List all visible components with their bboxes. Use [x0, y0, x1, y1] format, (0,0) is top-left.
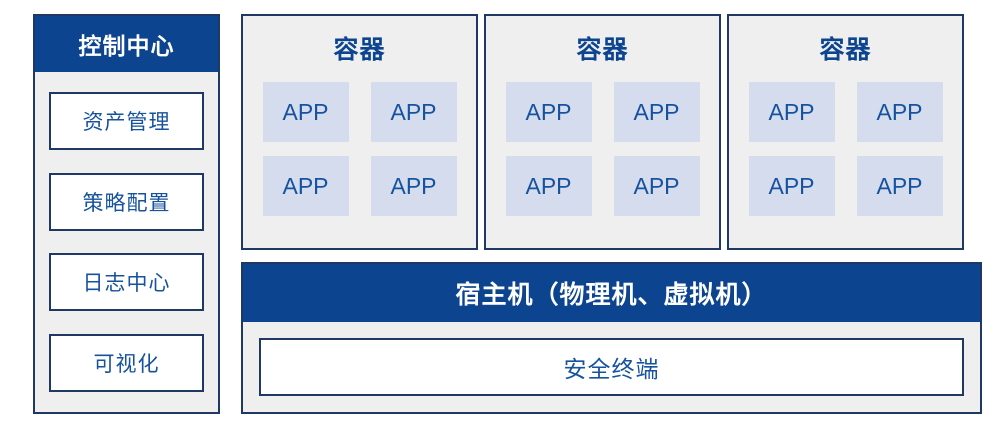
- app-box: APP: [263, 82, 349, 142]
- app-box: APP: [614, 156, 700, 216]
- container-panel-3: 容器 APP APP APP APP: [727, 14, 964, 250]
- control-item-visualization[interactable]: 可视化: [49, 334, 204, 392]
- security-terminal-box: 安全终端: [259, 338, 964, 396]
- app-box: APP: [371, 156, 457, 216]
- app-grid: APP APP APP APP: [749, 82, 943, 216]
- architecture-diagram: 控制中心 资产管理 策略配置 日志中心 可视化 容器 APP APP APP A…: [0, 0, 1001, 437]
- control-center-title: 控制中心: [35, 16, 218, 72]
- app-grid: APP APP APP APP: [506, 82, 700, 216]
- container-title: 容器: [576, 30, 628, 66]
- app-box: APP: [506, 82, 592, 142]
- host-machine-title: 宿主机（物理机、虚拟机）: [243, 264, 980, 322]
- app-box: APP: [614, 82, 700, 142]
- control-center-panel: 控制中心 资产管理 策略配置 日志中心 可视化: [33, 14, 220, 414]
- app-box: APP: [371, 82, 457, 142]
- container-panel-1: 容器 APP APP APP APP: [241, 14, 478, 250]
- container-row: 容器 APP APP APP APP 容器 APP APP APP APP 容器…: [241, 14, 964, 250]
- app-grid: APP APP APP APP: [263, 82, 457, 216]
- container-title: 容器: [819, 30, 871, 66]
- app-box: APP: [506, 156, 592, 216]
- control-item-log-center[interactable]: 日志中心: [49, 253, 204, 311]
- app-box: APP: [749, 82, 835, 142]
- host-machine-body: 安全终端: [243, 322, 980, 412]
- app-box: APP: [749, 156, 835, 216]
- app-box: APP: [857, 156, 943, 216]
- host-machine-panel: 宿主机（物理机、虚拟机） 安全终端: [241, 262, 982, 414]
- control-item-asset-management[interactable]: 资产管理: [49, 92, 204, 150]
- app-box: APP: [857, 82, 943, 142]
- control-item-policy-configuration[interactable]: 策略配置: [49, 173, 204, 231]
- app-box: APP: [263, 156, 349, 216]
- container-panel-2: 容器 APP APP APP APP: [484, 14, 721, 250]
- control-center-item-list: 资产管理 策略配置 日志中心 可视化: [35, 72, 218, 412]
- container-title: 容器: [333, 30, 385, 66]
